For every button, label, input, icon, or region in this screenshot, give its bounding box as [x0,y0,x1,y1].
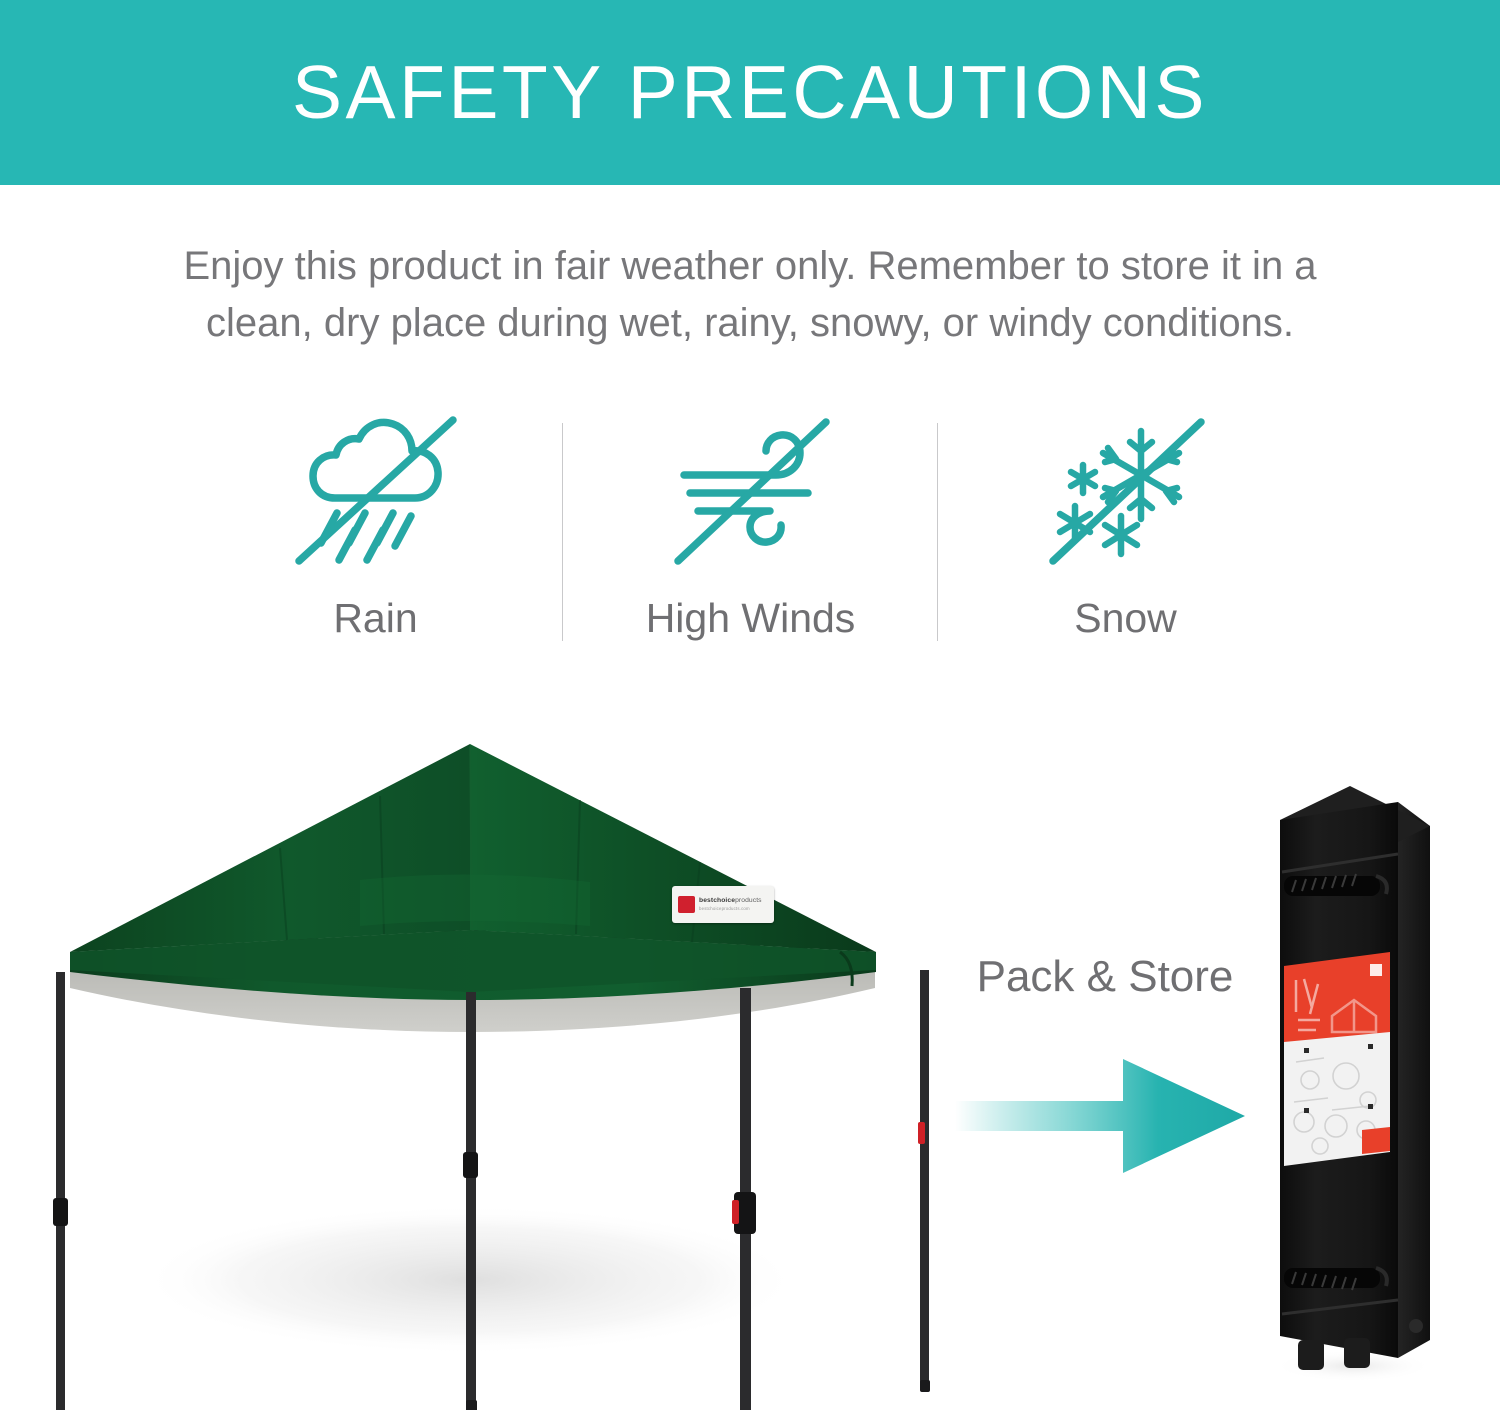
intro-paragraph: Enjoy this product in fair weather only.… [0,238,1500,352]
no-high-winds-icon [661,410,841,570]
brand-name: bestchoice [699,898,735,905]
pack-and-store-block: Pack & Store [955,955,1255,1181]
header-banner: SAFETY PRECAUTIONS [0,0,1500,185]
brand-name-secondary: products [735,898,762,905]
brand-tagline: bestchoiceproducts.com [699,906,762,911]
weather-item-snow: Snow [938,410,1313,660]
weather-item-rain: Rain [188,410,563,660]
no-snow-snowflake-icon [1036,410,1216,570]
weather-label-snow: Snow [1074,598,1177,639]
weather-label-high-winds: High Winds [646,598,856,639]
canopy-tent-image: bestchoiceproducts bestchoiceproducts.co… [40,720,970,1410]
weather-warning-row: Rain High Winds [188,410,1313,660]
brand-text: bestchoiceproducts bestchoiceproducts.co… [699,898,762,912]
weather-label-rain: Rain [333,598,417,639]
brand-mark-icon [678,896,695,913]
right-arrow-icon [955,1051,1245,1181]
safety-precautions-page: SAFETY PRECAUTIONS Enjoy this product in… [0,0,1500,1421]
canopy-brand-patch: bestchoiceproducts bestchoiceproducts.co… [672,886,774,923]
page-title: SAFETY PRECAUTIONS [292,55,1208,130]
product-scene: bestchoiceproducts bestchoiceproducts.co… [0,700,1500,1421]
no-rain-cloud-icon [286,410,466,570]
weather-item-high-winds: High Winds [563,410,938,660]
intro-line-1: Enjoy this product in fair weather only.… [70,238,1430,295]
pack-and-store-label: Pack & Store [955,955,1255,999]
intro-line-2: clean, dry place during wet, rainy, snow… [70,295,1430,352]
storage-bag-image [1258,780,1448,1380]
